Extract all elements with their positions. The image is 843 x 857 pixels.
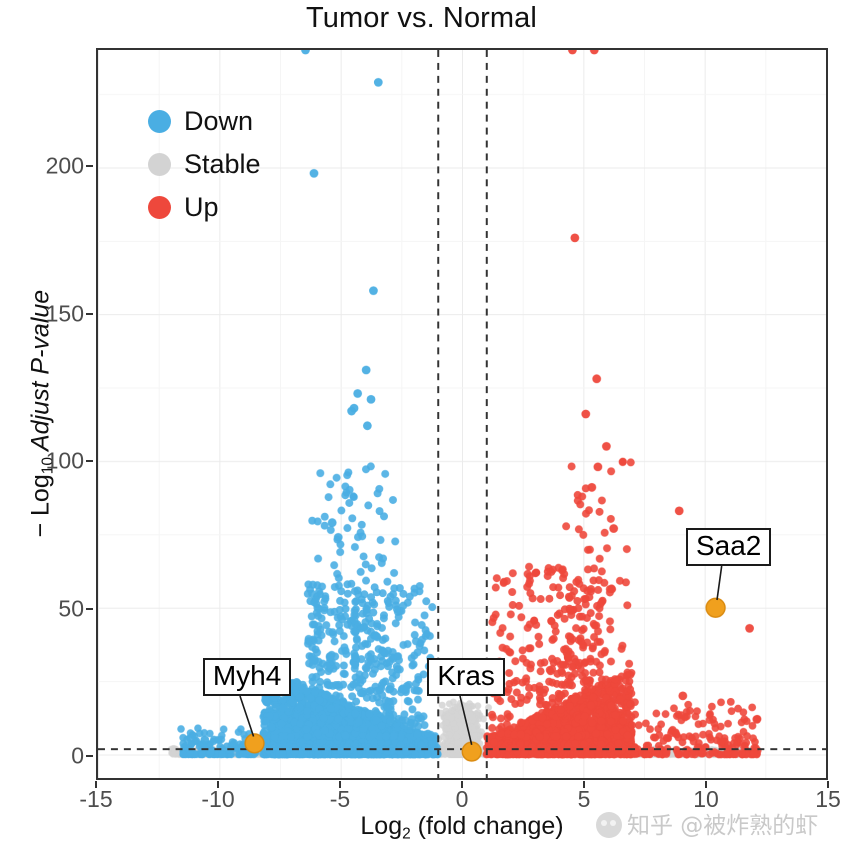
y-tick-label: 150 [14,300,84,327]
gene-leader-line-kras [460,696,476,758]
y-tick-mark [86,460,93,462]
legend: DownStableUp [148,100,338,229]
volcano-plot-figure: Tumor vs. Normal − Log10 Adjust P-value … [0,0,843,857]
x-tick-label: 0 [422,786,502,813]
y-tick-mark [86,313,93,315]
legend-item-up[interactable]: Up [148,186,338,229]
x-axis-title-sub: 2 [402,825,411,842]
legend-swatch-up-icon [148,196,171,219]
watermark-text: 知乎 @被炸熟的虾 [627,813,818,839]
legend-item-stable[interactable]: Stable [148,143,338,186]
y-tick-label: 200 [14,153,84,180]
x-tick-mark [217,781,219,788]
y-tick-label: 100 [14,448,84,475]
x-tick-mark [583,781,585,788]
x-tick-label: -15 [56,786,136,813]
legend-swatch-stable-icon [148,153,171,176]
gene-label-myh4[interactable]: Myh4 [203,658,291,696]
y-tick-mark [86,608,93,610]
x-tick-label: -5 [300,786,380,813]
watermark-logo-icon [596,812,622,838]
x-tick-mark [95,781,97,788]
page-title: Tumor vs. Normal [0,2,843,35]
legend-swatch-down-icon [148,110,171,133]
y-axis-ticks: 050100150200 [10,0,84,857]
gene-label-saa2[interactable]: Saa2 [686,528,771,566]
gene-leader-line-saa2 [717,566,726,613]
x-tick-mark [705,781,707,788]
watermark: 知乎 @被炸熟的虾 [596,806,818,840]
y-tick-mark [86,755,93,757]
gene-leader-line-myh4 [240,696,258,750]
y-tick-label: 0 [14,743,84,770]
legend-label: Up [184,194,219,221]
legend-label: Stable [184,151,261,178]
x-tick-mark [339,781,341,788]
legend-label: Down [184,108,253,135]
x-tick-mark [461,781,463,788]
x-tick-mark [827,781,829,788]
gene-label-kras[interactable]: Kras [427,658,505,696]
x-tick-label: -10 [178,786,258,813]
y-tick-mark [86,165,93,167]
y-tick-label: 50 [14,595,84,622]
legend-item-down[interactable]: Down [148,100,338,143]
